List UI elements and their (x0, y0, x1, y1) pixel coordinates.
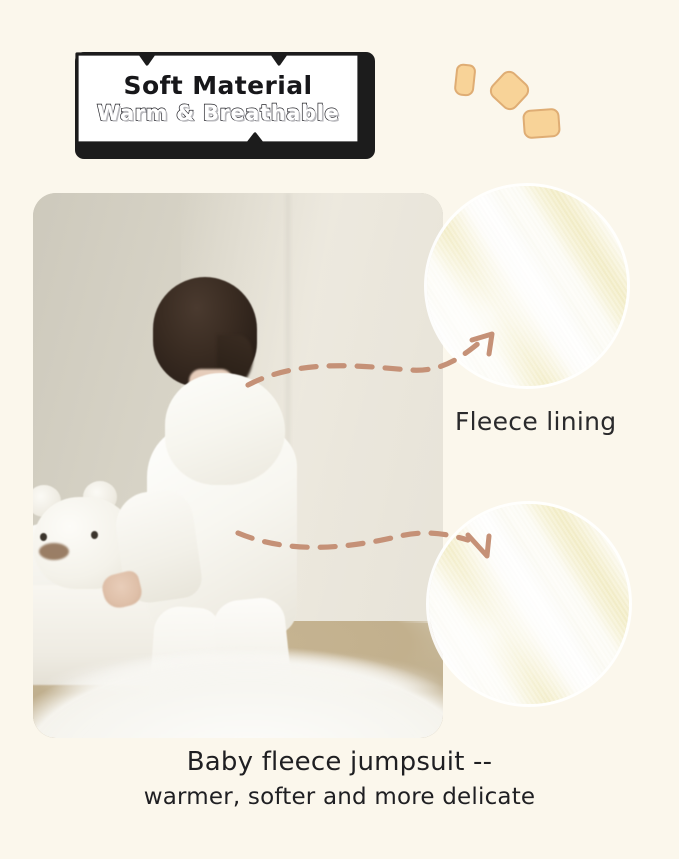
confetti-group (440, 50, 570, 155)
caption-line-2: warmer, softer and more delicate (0, 780, 679, 815)
scene-rug (33, 614, 443, 738)
fabric-swatch-bottom (429, 504, 629, 704)
confetti-square-small-icon (453, 63, 476, 97)
confetti-diamond-icon (486, 67, 533, 114)
caption-line-1: Baby fleece jumpsuit -- (0, 745, 679, 780)
caption: Baby fleece jumpsuit -- warmer, softer a… (0, 745, 679, 815)
badge-subtitle: Warm & Breathable (97, 101, 339, 125)
header-badge: Soft Material Warm & Breathable (68, 45, 368, 152)
baby-jumpsuit-hood (165, 373, 285, 485)
confetti-rect-icon (522, 108, 561, 140)
teddy-eye-left (40, 533, 47, 541)
fabric-swatch-top-sheen (427, 186, 627, 386)
product-photo (33, 193, 443, 738)
photo-scene (33, 193, 443, 738)
teddy-snout (39, 543, 69, 560)
teddy-eye-right (91, 531, 98, 539)
badge-title: Soft Material (124, 72, 313, 100)
header-badge-text: Soft Material Warm & Breathable (68, 45, 368, 152)
fabric-swatch-top (427, 186, 627, 386)
fabric-swatch-bottom-sheen (429, 504, 629, 704)
fleece-lining-label: Fleece lining (455, 407, 616, 436)
